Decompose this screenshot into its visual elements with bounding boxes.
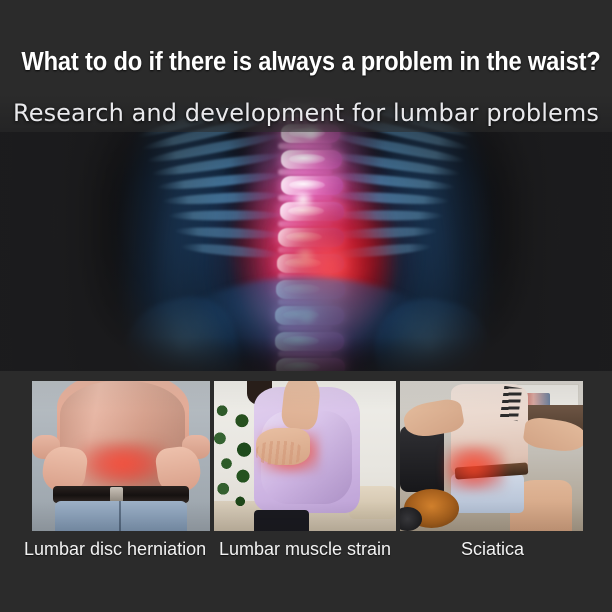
thumbnail-lumbar-disc-herniation[interactable] — [32, 381, 210, 531]
thumbnail-lumbar-muscle-strain[interactable] — [214, 381, 396, 531]
heading-block: What to do if there is always a problem … — [0, 0, 612, 132]
photo-lumbar-muscle-strain — [214, 381, 396, 531]
poster-root: What to do if there is always a problem … — [0, 0, 612, 612]
pain-glow — [78, 441, 167, 486]
page-title: What to do if there is always a problem … — [21, 48, 590, 77]
photo-lumbar-disc-herniation — [32, 381, 210, 531]
thumbnail-row: Lumbar disc herniation Lumbar muscle str… — [0, 371, 612, 612]
photo-sciatica — [400, 381, 583, 531]
caption-lumbar-muscle-strain: Lumbar muscle strain — [219, 539, 391, 560]
caption-sciatica: Sciatica — [461, 539, 524, 560]
thumbnail-sciatica[interactable] — [400, 381, 583, 531]
caption-lumbar-disc-herniation: Lumbar disc herniation — [24, 539, 206, 560]
page-subtitle: Research and development for lumbar prob… — [0, 99, 612, 127]
pain-glow — [444, 444, 506, 492]
